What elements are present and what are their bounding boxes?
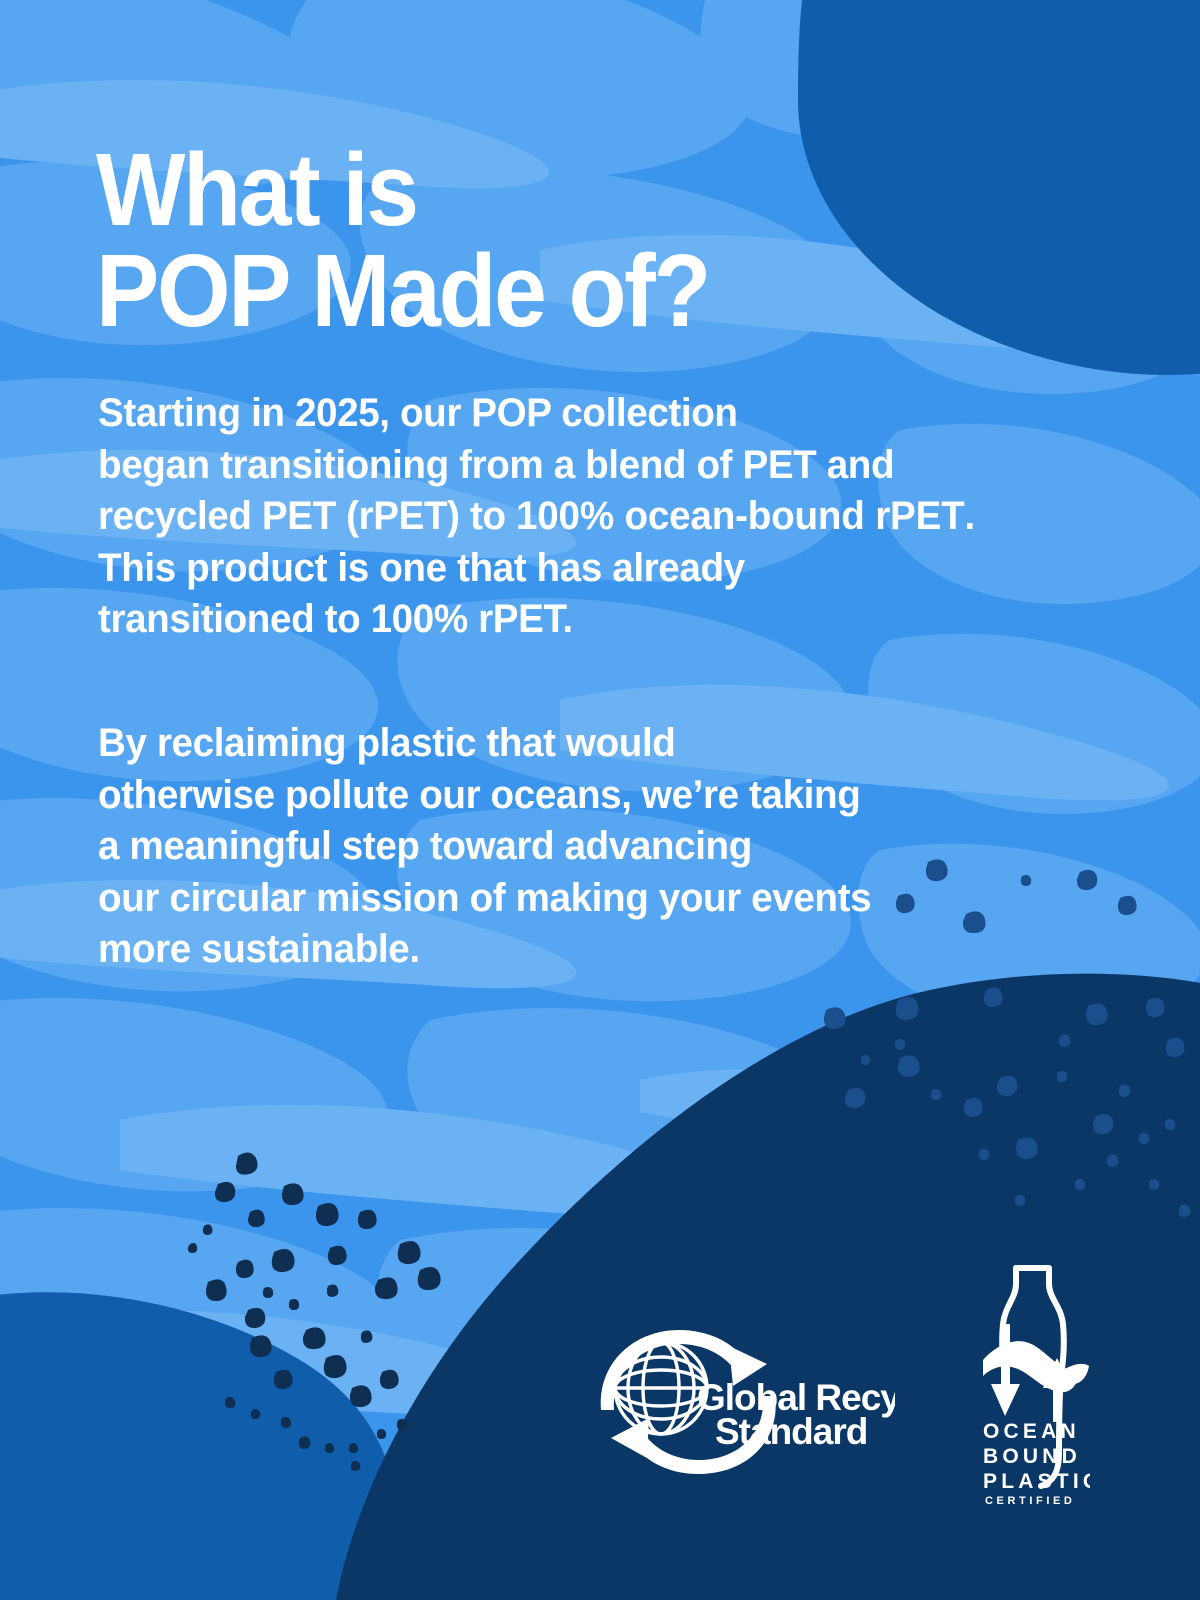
obp-line-1: OCEAN — [983, 1420, 1080, 1443]
global-recycled-standard-logo: Global Recycled Standard — [575, 1318, 895, 1483]
grs-line-2: Standard — [715, 1411, 867, 1452]
poster-canvas: What is POP Made of? Starting in 2025, o… — [0, 0, 1200, 1600]
down-arrow-icon — [991, 1324, 1020, 1416]
certification-logos: Global Recycled Standard — [0, 0, 1200, 1600]
obp-line-2: BOUND — [983, 1445, 1081, 1468]
obp-line-4: CERTIFIED — [985, 1495, 1075, 1507]
ocean-bound-plastic-certified-logo: OCEAN BOUND PLASTIC CERTIFIED — [975, 1258, 1090, 1508]
obp-line-3: PLASTIC — [983, 1470, 1090, 1493]
